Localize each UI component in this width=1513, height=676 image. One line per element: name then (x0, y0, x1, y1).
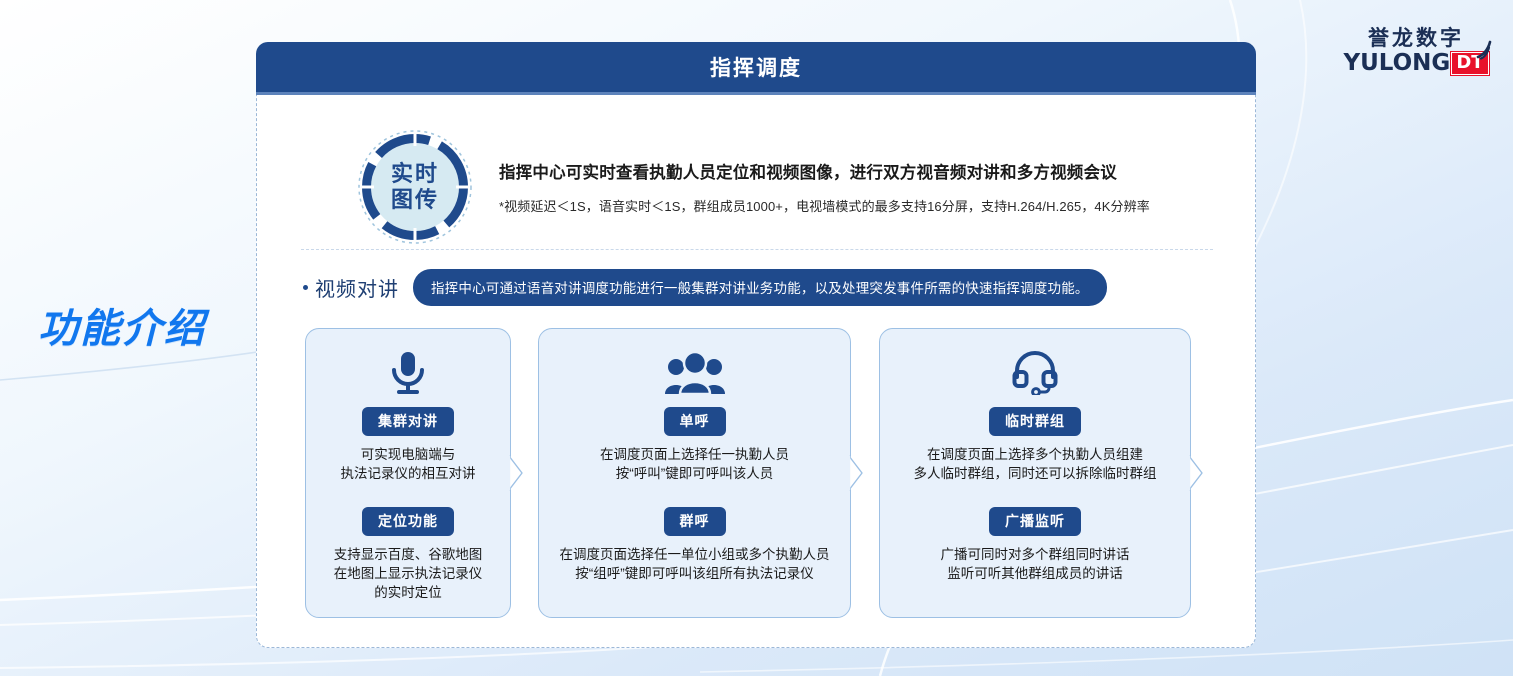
feature-card[interactable]: 临时群组 在调度页面上选择多个执勤人员组建 多人临时群组，同时还可以拆除临时群组… (879, 328, 1191, 618)
badge-line-1: 实时 (391, 161, 439, 187)
feature-text: 在调度页面上选择任一执勤人员 按“呼叫”键即可呼叫该人员 (551, 445, 838, 483)
panel-header: 指挥调度 (256, 42, 1256, 92)
feature-card[interactable]: 集群对讲 可实现电脑端与 执法记录仪的相互对讲 定位功能 支持显示百度、谷歌地图… (305, 328, 511, 618)
feature-row-label: 视频对讲 (315, 273, 399, 302)
intro-footnote: *视频延迟＜1S，语音实时＜1S，群组成员1000+，电视墙模式的最多支持16分… (499, 196, 1150, 215)
realtime-video-badge: 实时 图传 (357, 129, 473, 245)
microphone-icon (318, 349, 498, 397)
signal-wave-icon (1475, 40, 1493, 60)
content-panel: 指挥调度 (256, 42, 1256, 648)
page-title: 功能介绍 (38, 296, 206, 354)
feature-card[interactable]: 单呼 在调度页面上选择任一执勤人员 按“呼叫”键即可呼叫该人员 群呼 在调度页面… (538, 328, 851, 618)
people-group-icon (551, 349, 838, 397)
logo-latin-name: YULONG (1343, 51, 1450, 75)
feature-text: 支持显示百度、谷歌地图 在地图上显示执法记录仪 的实时定位 (318, 545, 498, 602)
panel-title: 指挥调度 (710, 52, 802, 82)
logo-chinese-name: 誉龙数字 (1341, 28, 1491, 50)
slide-canvas: 功能介绍 誉龙数字 YULONG DT 指挥调度 (0, 0, 1513, 676)
feature-text: 广播可同时对多个群组同时讲话 监听可听其他群组成员的讲话 (892, 545, 1178, 583)
chevron-right-icon (848, 455, 864, 491)
feature-row-description-pill: 指挥中心可通过语音对讲调度功能进行一般集群对讲业务功能，以及处理突发事件所需的快… (413, 269, 1107, 306)
feature-text: 在调度页面选择任一单位小组或多个执勤人员 按“组呼”键即可呼叫该组所有执法记录仪 (551, 545, 838, 583)
feature-row-header: 视频对讲 指挥中心可通过语音对讲调度功能进行一般集群对讲业务功能，以及处理突发事… (303, 269, 1107, 306)
feature-tag: 广播监听 (989, 507, 1081, 536)
feature-tag: 临时群组 (989, 407, 1081, 436)
feature-text: 在调度页面上选择多个执勤人员组建 多人临时群组，同时还可以拆除临时群组 (892, 445, 1178, 483)
feature-tag: 定位功能 (362, 507, 454, 536)
feature-tag: 群呼 (664, 507, 726, 536)
chevron-right-icon (508, 455, 524, 491)
feature-card-list: 集群对讲 可实现电脑端与 执法记录仪的相互对讲 定位功能 支持显示百度、谷歌地图… (305, 328, 1191, 618)
badge-line-2: 图传 (391, 187, 439, 213)
intro-row: 实时 图传 指挥中心可实时查看执勤人员定位和视频图像，进行双方视音频对讲和多方视… (357, 129, 1150, 245)
feature-text: 可实现电脑端与 执法记录仪的相互对讲 (318, 445, 498, 483)
headset-icon (892, 349, 1178, 397)
panel-header-underline (256, 92, 1256, 95)
chevron-right-icon (1188, 455, 1204, 491)
feature-tag: 集群对讲 (362, 407, 454, 436)
badge-label: 实时 图传 (357, 129, 473, 245)
bullet-dot-icon (303, 285, 308, 290)
intro-headline: 指挥中心可实时查看执勤人员定位和视频图像，进行双方视音频对讲和多方视频会议 (499, 159, 1150, 183)
feature-tag: 单呼 (664, 407, 726, 436)
brand-logo: 誉龙数字 YULONG DT (1341, 28, 1491, 80)
section-divider (301, 249, 1213, 250)
